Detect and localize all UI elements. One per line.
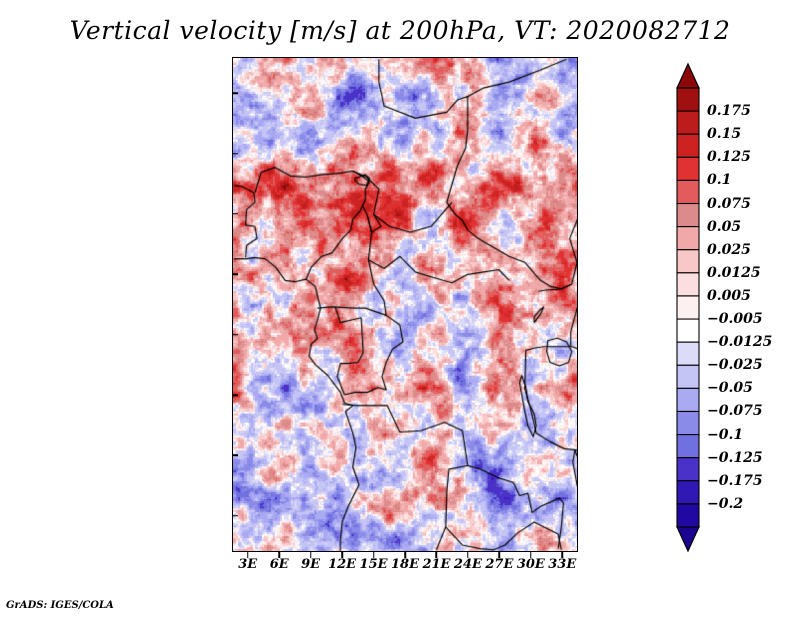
footer-credit: GrADS: IGES/COLA (6, 600, 114, 611)
lon-label-6e: 6E (270, 557, 289, 572)
lon-label-15e: 15E (360, 557, 388, 572)
colorbar-tick-15: −0.125 (707, 450, 763, 466)
lon-label-27e: 27E (485, 557, 513, 572)
colorbar-tick-13: −0.075 (707, 403, 763, 419)
lon-tick (373, 552, 375, 558)
lon-label-18e: 18E (391, 557, 419, 572)
colorbar-tick-10: −0.0125 (707, 334, 772, 350)
colorbar-tick-17: −0.2 (707, 496, 743, 512)
colorbar-tick-1: 0.15 (707, 126, 741, 142)
lon-tick (310, 552, 312, 558)
lon-label-24e: 24E (454, 557, 482, 572)
lon-tick (499, 552, 501, 558)
lon-tick (278, 552, 280, 558)
colorbar-tick-3: 0.1 (707, 172, 731, 188)
colorbar: 0.1750.150.1250.10.0750.050.0250.01250.0… (675, 57, 795, 557)
colorbar-tick-6: 0.025 (707, 242, 751, 258)
colorbar-tick-4: 0.075 (707, 196, 751, 212)
lon-label-3e: 3E (238, 557, 257, 572)
colorbar-tick-9: −0.005 (707, 311, 763, 327)
lon-tick (247, 552, 249, 558)
colorbar-tick-8: 0.005 (707, 288, 751, 304)
lon-label-30e: 30E (517, 557, 545, 572)
lon-tick (341, 552, 343, 558)
lon-label-21e: 21E (422, 557, 450, 572)
colorbar-tick-5: 0.05 (707, 219, 741, 235)
lon-tick (436, 552, 438, 558)
lon-label-33e: 33E (548, 557, 576, 572)
colorbar-tick-12: −0.05 (707, 380, 753, 396)
colorbar-tick-11: −0.025 (707, 357, 763, 373)
colorbar-tick-16: −0.175 (707, 473, 763, 489)
lon-tick (404, 552, 406, 558)
colorbar-tick-14: −0.1 (707, 427, 743, 443)
lon-tick (530, 552, 532, 558)
colorbar-tick-2: 0.125 (707, 149, 751, 165)
lon-label-12e: 12E (328, 557, 356, 572)
lon-label-9e: 9E (301, 557, 320, 572)
colorbar-tick-7: 0.0125 (707, 265, 761, 281)
lon-tick (562, 552, 564, 558)
colorbar-tick-0: 0.175 (707, 103, 751, 119)
lon-tick (467, 552, 469, 558)
